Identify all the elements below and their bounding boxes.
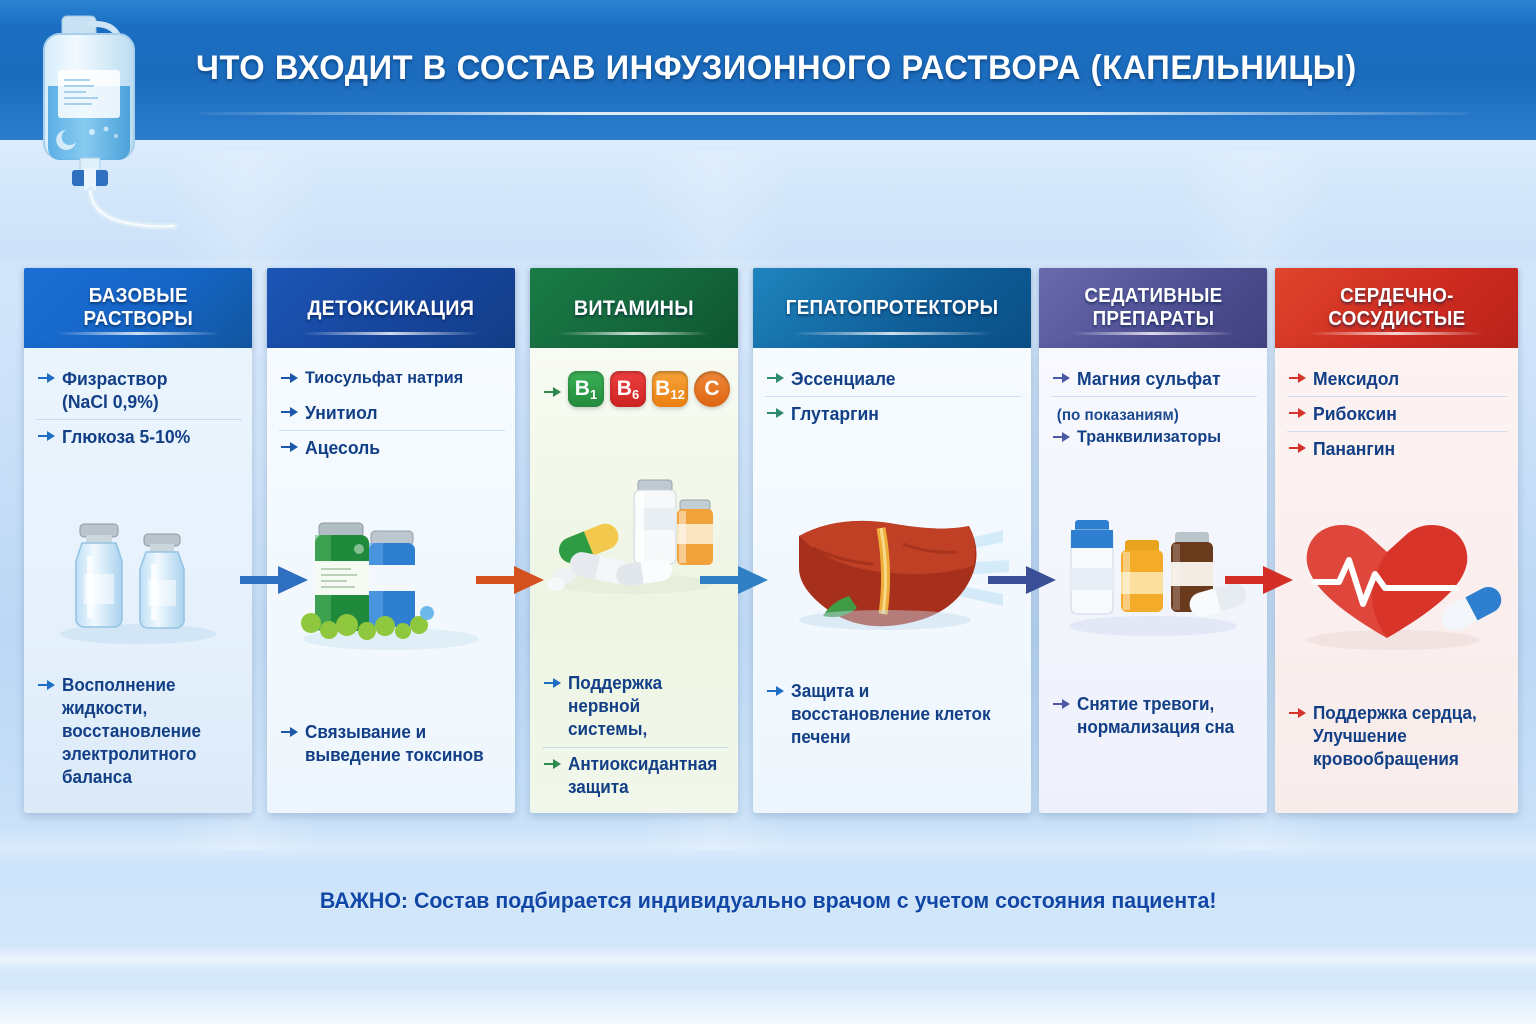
header-underline [792,332,992,335]
outcome-item: Восполнение жидкости, восстановление эле… [36,669,242,795]
outcome-list: Поддержка сердца, Улучшение кровообращен… [1275,697,1518,777]
column-header-sedatives: СЕДАТИВНЫЕПРЕПАРАТЫ [1039,268,1267,348]
outcome-label: Поддержка сердца, Улучшение кровообращен… [1313,702,1496,771]
vitamin-badge-b12[interactable]: B12 [652,371,688,407]
item-list: Тиосульфат натрия Унитиол Ацесоль [267,348,515,465]
vitamin-badges: B1 B6 B12 C [568,371,730,407]
list-item[interactable]: Унитиол [279,396,505,430]
list-item-note: (по показаниям) [1053,402,1181,426]
outcome-label: Антиоксидантная защита [568,753,718,799]
arrow-right-icon [1053,697,1070,716]
column-title-detox: ДЕТОКСИКАЦИЯ [302,297,480,320]
outcome-item: Поддержка нервной системы, [542,667,728,747]
page-title-wrap: ЧТО ВХОДИТ В СОСТАВ ИНФУЗИОННОГО РАСТВОР… [196,40,1496,130]
outcome-label: Связывание и выведение токсинов [305,721,493,767]
column-detox[interactable]: ДЕТОКСИКАЦИЯ Тиосульфат натрия Унитиол [267,268,515,813]
list-item[interactable]: Ацесоль [279,430,505,465]
column-title-vitamins: ВИТАМИНЫ [568,297,699,320]
header-underline [559,332,709,335]
outcome-list: Защита и восстановление клеток печени [753,675,1031,755]
column-header-hepatoprotectors: ГЕПАТОПРОТЕКТОРЫ [753,268,1031,348]
list-item-label: Рибоксин [1313,402,1397,425]
arrow-right-icon [544,385,561,404]
list-item-label: Мексидол [1313,367,1399,390]
list-item-label: Транквилизаторы [1077,426,1221,448]
list-item[interactable]: Глюкоза 5-10% [36,419,242,454]
list-item-label: Ацесоль [305,436,380,459]
list-item[interactable]: (по показаниям) Транквилизаторы [1051,396,1257,455]
outcome-item: Связывание и выведение токсинов [279,716,505,773]
arrow-right-icon [1289,706,1306,725]
list-item[interactable]: Эссенциале [765,362,1021,396]
outcome-item: Антиоксидантная защита [542,747,728,805]
column-hepatoprotectors[interactable]: ГЕПАТОПРОТЕКТОРЫ Эссенциале Глутаргин [753,268,1031,813]
two-infusion-bottles-illustration [24,508,252,653]
column-title-base-solutions: БАЗОВЫЕРАСТВОРЫ [78,285,199,331]
page-title: ЧТО ВХОДИТ В СОСТАВ ИНФУЗИОННОГО РАСТВОР… [196,40,1444,96]
column-vitamins[interactable]: ВИТАМИНЫ B1 B6 [530,268,738,813]
header-underline [302,332,481,335]
vitamin-badge-b1[interactable]: B1 [568,371,604,407]
bg-sheen-3 [0,990,1536,1024]
header-underline [1309,332,1484,335]
header-band-highlight [0,0,1536,26]
column-cardiovascular[interactable]: СЕРДЕЧНО-СОСУДИСТЫЕ Мексидол Рибоксин [1275,268,1518,813]
bg-sheen-2 [0,946,1536,972]
heart-with-ecg-line-and-capsule-illustration [1275,508,1518,663]
arrow-right-icon [767,406,784,425]
title-underline [200,112,1470,115]
list-item-label: Глюкоза 5-10% [62,425,190,448]
outcome-item: Снятие тревоги, нормализация сна [1051,688,1257,745]
list-item-label: Панангин [1313,437,1395,460]
outcome-list: Связывание и выведение токсинов [267,716,515,773]
infographic-page: ЧТО ВХОДИТ В СОСТАВ ИНФУЗИОННОГО РАСТВОР… [0,0,1536,1024]
list-item[interactable]: Магния сульфат [1051,362,1257,396]
column-title-cardiovascular: СЕРДЕЧНО-СОСУДИСТЫЕ [1322,285,1470,331]
column-body-base-solutions: Физраствор(NaCl 0,9%) Глюкоза 5-10% [24,348,252,813]
connector-arrow-3 [700,562,770,598]
connector-arrow-2 [476,562,546,598]
arrow-right-icon [38,678,55,697]
outcome-item: Защита и восстановление клеток печени [765,675,1021,755]
header-underline [56,332,220,335]
vitamin-badge-b6[interactable]: B6 [610,371,646,407]
arrow-right-icon [38,371,55,390]
outcome-list: Восполнение жидкости, восстановление эле… [24,669,252,795]
arrow-right-icon [544,676,561,695]
arrow-right-icon [767,684,784,703]
outcome-list: Снятие тревоги, нормализация сна [1039,688,1267,745]
list-item[interactable]: Рибоксин [1287,396,1508,431]
arrow-right-icon [281,405,298,424]
outcome-list: Поддержка нервной системы, Антиоксидантн… [530,667,738,805]
list-item-label: Унитиол [305,401,378,424]
arrow-right-icon [281,725,298,744]
iv-drip-bag-icon [20,8,200,258]
outcome-label: Защита и восстановление клеток печени [791,680,1008,749]
arrow-right-icon [1289,371,1306,390]
list-item[interactable]: Тиосульфат натрия [279,362,505,396]
vitamin-badge-c[interactable]: C [694,371,730,407]
outcome-item: Поддержка сердца, Улучшение кровообращен… [1287,697,1508,777]
item-list: Физраствор(NaCl 0,9%) Глюкоза 5-10% [24,348,252,454]
arrow-right-icon [544,757,561,776]
arrow-right-icon [1289,441,1306,460]
column-sedatives[interactable]: СЕДАТИВНЫЕПРЕПАРАТЫ Магния сульфат (по п… [1039,268,1267,813]
upper-gradient [0,140,1536,260]
list-item[interactable]: Мексидол [1287,362,1508,396]
outcome-label: Снятие тревоги, нормализация сна [1077,693,1246,739]
list-item-label: Эссенциале [791,367,896,390]
column-body-cardiovascular: Мексидол Рибоксин Панангин [1275,348,1518,813]
list-item-label: Магния сульфат [1077,367,1221,390]
arrow-right-icon [1053,430,1070,449]
arrow-right-icon [281,440,298,459]
vitamin-badge-list: B1 B6 B12 C [530,348,738,413]
arrow-right-icon [1053,371,1070,390]
item-list: Мексидол Рибоксин Панангин [1275,348,1518,466]
column-header-base-solutions: БАЗОВЫЕРАСТВОРЫ [24,268,252,348]
item-list: Эссенциале Глутаргин [753,348,1031,431]
column-title-hepatoprotectors: ГЕПАТОПРОТЕКТОРЫ [780,297,1004,320]
arrow-right-icon [38,429,55,448]
column-header-cardiovascular: СЕРДЕЧНО-СОСУДИСТЫЕ [1275,268,1518,348]
column-title-sedatives: СЕДАТИВНЫЕПРЕПАРАТЫ [1078,285,1227,331]
arrow-right-icon [1289,406,1306,425]
list-item[interactable]: Глутаргин [765,396,1021,431]
bg-sheen-1 [0,826,1536,866]
footer-note: ВАЖНО: Состав подбирается индивидуально … [320,888,1217,914]
connector-arrow-4 [988,562,1058,598]
list-item-label: Глутаргин [791,402,879,425]
list-item-label: Тиосульфат натрия [305,367,463,389]
arrow-right-icon [767,371,784,390]
connector-arrow-1 [240,562,310,598]
arrow-right-icon [281,371,298,390]
list-item[interactable]: Панангин [1287,431,1508,466]
outcome-label: Поддержка нервной системы, [568,672,718,741]
connector-arrow-5 [1225,562,1295,598]
column-base-solutions[interactable]: БАЗОВЫЕРАСТВОРЫ Физраствор(NaCl 0,9%) [24,268,252,813]
list-item[interactable]: Физраствор(NaCl 0,9%) [36,362,242,419]
column-header-vitamins: ВИТАМИНЫ [530,268,738,348]
item-list: Магния сульфат (по показаниям) Транквили… [1039,348,1267,455]
footer-note-wrap: ВАЖНО: Состав подбирается индивидуально … [0,888,1536,914]
category-columns: БАЗОВЫЕРАСТВОРЫ Физраствор(NaCl 0,9%) [24,268,1518,813]
list-item-label: Физраствор(NaCl 0,9%) [62,367,167,413]
column-header-detox: ДЕТОКСИКАЦИЯ [267,268,515,348]
outcome-label: Восполнение жидкости, восстановление эле… [62,674,231,789]
vitamin-row[interactable]: B1 B6 B12 C [542,366,728,413]
header-underline [1071,332,1235,335]
